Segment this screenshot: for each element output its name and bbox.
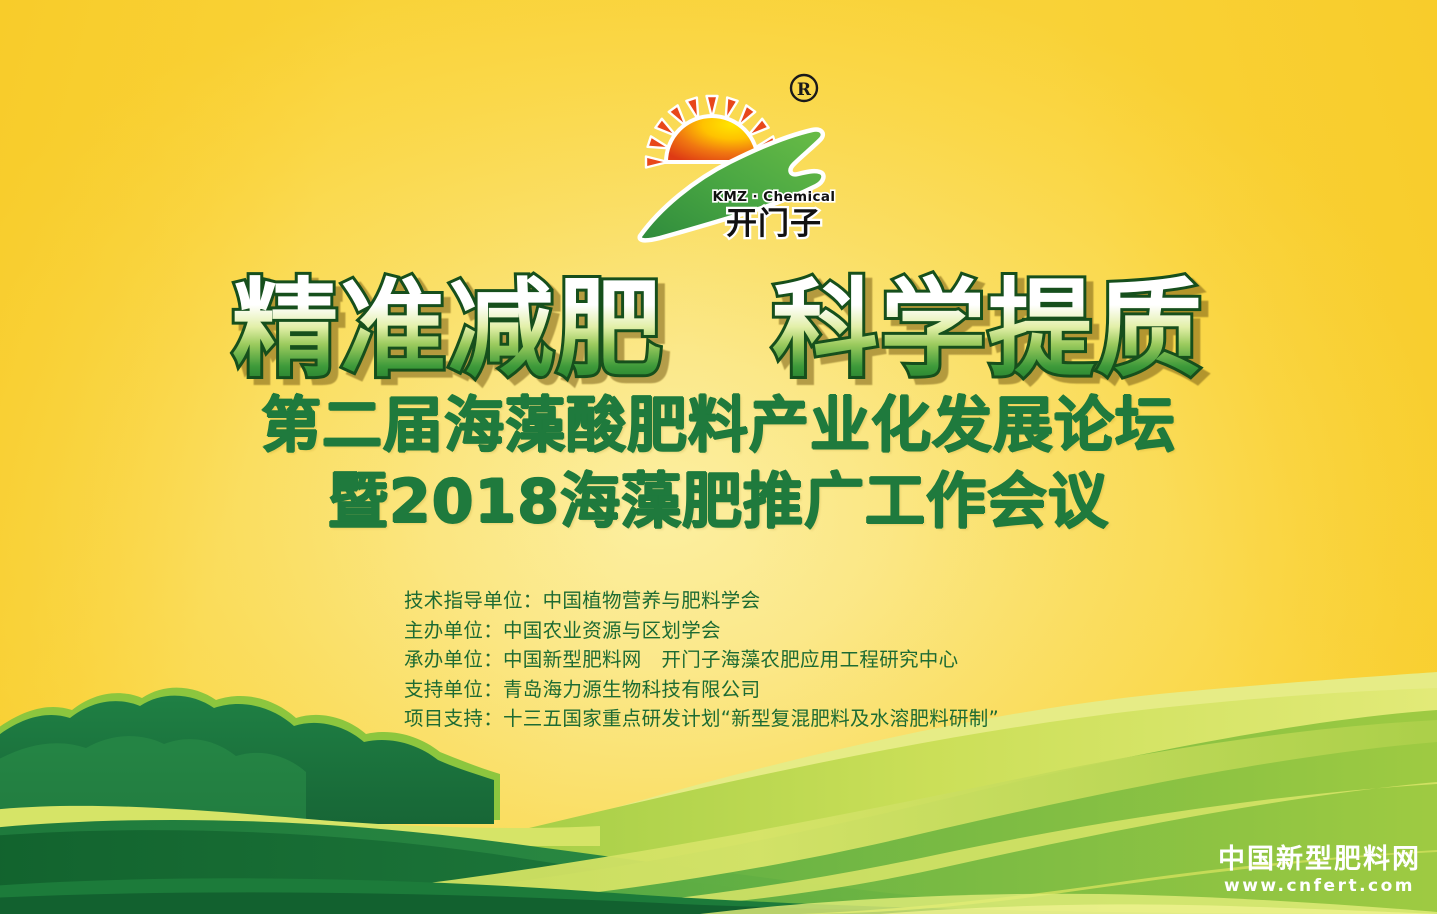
brand-en-label: KMZ · Chemical (713, 189, 836, 205)
organizer-info-block: 技术指导单位：中国植物营养与肥料学会 主办单位：中国农业资源与区划学会 承办单位… (404, 586, 1204, 734)
subtitle-line-1: 第二届海藻酸肥料产业化发展论坛 (0, 396, 1437, 456)
svg-text:R: R (797, 80, 812, 100)
watermark-site-name: 中国新型肥料网 (1218, 846, 1421, 874)
brand-logo: R KMZ · Chemical 开门子 (626, 58, 846, 253)
watermark-url: www.cnfert.com (1218, 876, 1421, 896)
organizer-line-technical-guidance: 技术指导单位：中国植物营养与肥料学会 (404, 586, 1204, 616)
headline-text: 精准减肥 科学提质 (232, 268, 1204, 391)
poster-headline: 精准减肥 科学提质 (0, 262, 1437, 392)
poster-subtitle: 第二届海藻酸肥料产业化发展论坛 暨2018海藻肥推广工作会议 (0, 396, 1437, 532)
organizer-line-supporter: 支持单位：青岛海力源生物科技有限公司 (404, 675, 1204, 705)
site-watermark: 中国新型肥料网 www.cnfert.com (1218, 846, 1421, 896)
organizer-line-organizer: 承办单位：中国新型肥料网 开门子海藻农肥应用工程研究中心 (404, 645, 1204, 675)
registered-trademark-icon: R (791, 75, 817, 101)
subtitle-line-2: 暨2018海藻肥推广工作会议 (0, 472, 1437, 532)
conference-poster: R KMZ · Chemical 开门子 (0, 0, 1437, 914)
organizer-line-project-support: 项目支持：十三五国家重点研发计划“新型复混肥料及水溶肥料研制” (404, 704, 1204, 734)
brand-cn-label: 开门子 (726, 206, 822, 242)
organizer-line-host: 主办单位：中国农业资源与区划学会 (404, 616, 1204, 646)
